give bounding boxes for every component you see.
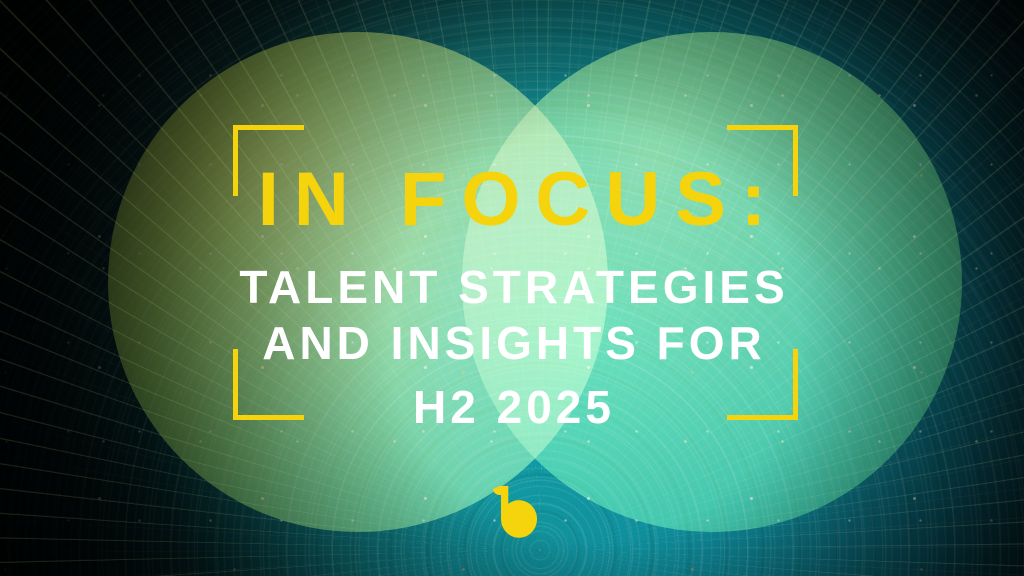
subtitle-line-2: AND INSIGHTS FOR — [0, 320, 1024, 366]
subtitle-line-1: TALENT STRATEGIES — [0, 264, 1024, 310]
b-logo-icon — [487, 486, 541, 542]
headline-in-focus: IN FOCUS: — [0, 162, 1024, 238]
presentation-slide: IN FOCUS: TALENT STRATEGIES AND INSIGHTS… — [0, 0, 1024, 576]
subtitle-line-3: H2 2025 — [0, 384, 1024, 430]
